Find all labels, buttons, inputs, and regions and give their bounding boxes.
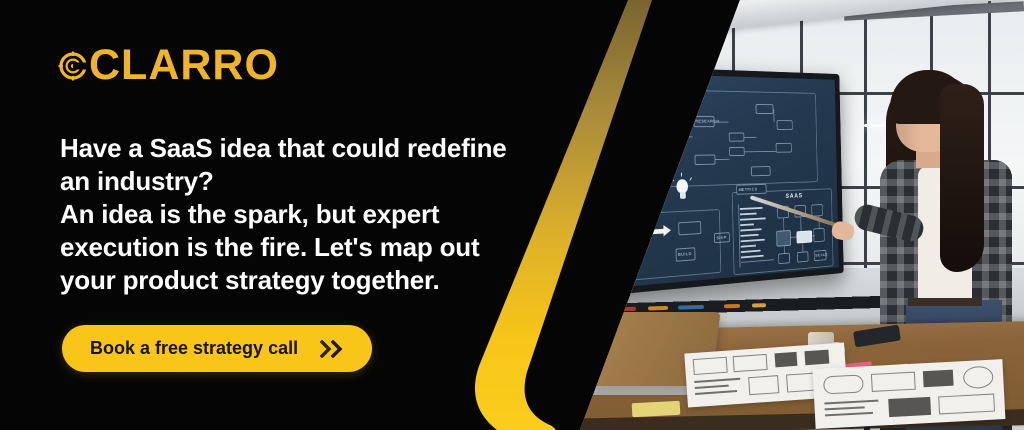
brand-logo[interactable]: CLARRO — [58, 44, 279, 87]
headline-line-4: execution is the fire. Let's map out — [60, 231, 530, 264]
book-strategy-call-button[interactable]: Book a free strategy call — [62, 325, 372, 372]
headline-block: Have a SaaS idea that could redefine an … — [60, 132, 530, 297]
office-scene: PRODUCT — [564, 0, 1024, 430]
promo-banner: PRODUCT — [0, 0, 1024, 430]
sticky-note-pad — [632, 401, 681, 417]
double-chevron-right-icon — [320, 340, 346, 358]
screen-label-metrics: METRICS — [739, 187, 758, 192]
long-hair — [940, 84, 984, 272]
display-bezel: PRODUCT — [564, 64, 844, 300]
hero-photo: PRODUCT — [564, 0, 1024, 430]
screen-label-saas: SAAS — [786, 193, 803, 200]
wireframe-paper-right — [813, 359, 1006, 429]
headline-line-3: An idea is the spark, but expert — [60, 198, 530, 231]
screen-node-ship: SHIP — [716, 235, 726, 240]
target-lens-icon — [58, 51, 88, 81]
headline-line-2: an industry? — [60, 165, 530, 198]
content-column: CLARRO Have a SaaS idea that could redef… — [0, 0, 560, 430]
screen-label-product: PRODUCT — [586, 83, 625, 91]
brand-name: CLARRO — [89, 44, 279, 87]
cta-label: Book a free strategy call — [90, 338, 298, 359]
lightbulb-icon — [676, 179, 690, 200]
headline-line-5: your product strategy together. — [60, 264, 530, 297]
wall-display: PRODUCT — [564, 64, 844, 300]
screen-node-roadmap: ROADMAP — [595, 198, 620, 204]
headline-line-1: Have a SaaS idea that could redefine — [60, 132, 530, 165]
display-screen: PRODUCT — [564, 71, 839, 292]
